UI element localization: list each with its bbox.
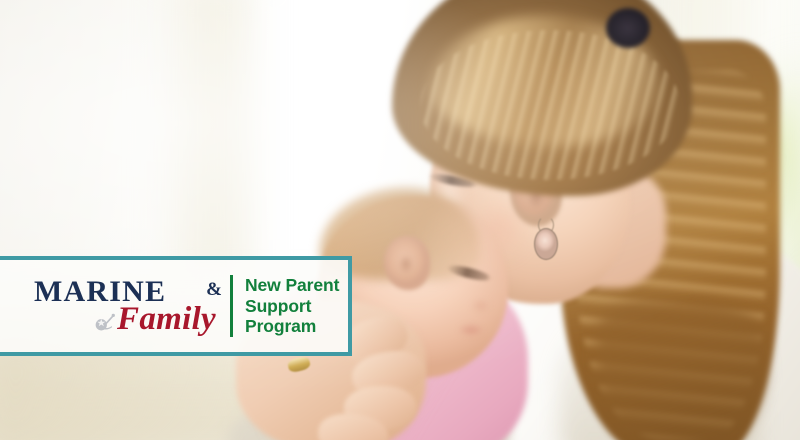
program-line-2: Support bbox=[245, 296, 339, 316]
logo-inner: MARINE & Family bbox=[0, 275, 348, 337]
logo-divider bbox=[230, 275, 233, 337]
baby-mouth bbox=[454, 322, 488, 338]
mother-hair-strands bbox=[420, 30, 680, 180]
logo-plaque: MARINE & Family bbox=[0, 256, 352, 356]
ponytail-tie bbox=[606, 8, 650, 48]
baby-ear-inner bbox=[396, 250, 416, 278]
wordmark-ampersand: & bbox=[206, 279, 222, 301]
program-line-3: Program bbox=[245, 316, 339, 336]
hero-photo bbox=[0, 0, 800, 440]
wordmark-family: Family bbox=[117, 303, 216, 336]
new-parent-support-program-banner: MARINE & Family bbox=[0, 0, 800, 440]
mother-hair-ends bbox=[596, 300, 766, 440]
window-frame-left bbox=[150, 0, 270, 280]
program-line-1: New Parent bbox=[245, 275, 339, 295]
baby-nose bbox=[468, 296, 494, 316]
wordmark-second-row: & Family bbox=[34, 303, 216, 336]
marine-and-family-wordmark: MARINE & Family bbox=[34, 277, 216, 336]
earring-icon bbox=[534, 228, 558, 260]
marine-corps-emblem-icon bbox=[93, 313, 115, 333]
program-name: New Parent Support Program bbox=[245, 275, 339, 336]
